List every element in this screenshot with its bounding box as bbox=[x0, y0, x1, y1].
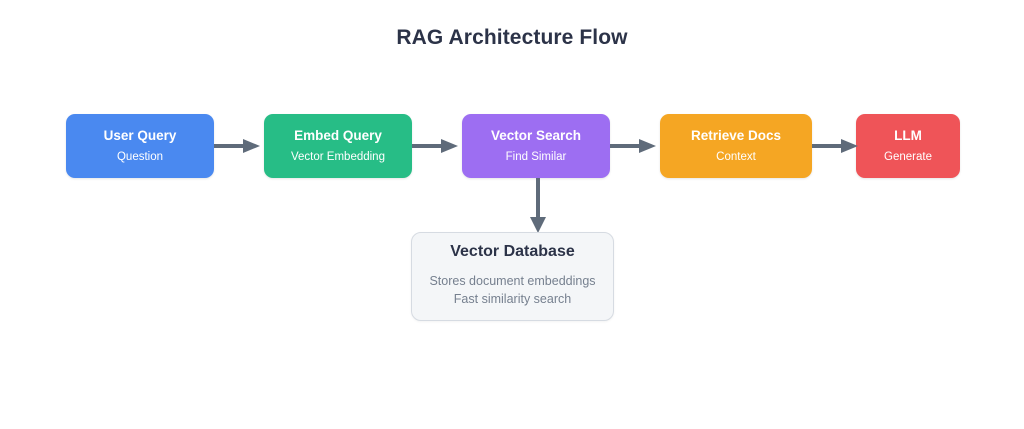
flow-node-subtitle: Generate bbox=[884, 152, 932, 164]
arrow-head bbox=[530, 217, 546, 233]
arrow-head bbox=[441, 139, 458, 153]
flow-node-title: LLM bbox=[894, 129, 922, 143]
arrow-right-icon bbox=[412, 139, 462, 153]
vector-database-detail-line-2: Fast similarity search bbox=[454, 291, 571, 309]
arrow-right-icon bbox=[812, 139, 862, 153]
flow-node-title: User Query bbox=[104, 129, 177, 143]
vector-database-title: Vector Database bbox=[450, 244, 575, 260]
flow-node-subtitle: Vector Embedding bbox=[291, 152, 385, 164]
arrow-right-icon bbox=[610, 139, 660, 153]
arrow-head bbox=[243, 139, 260, 153]
arrow-down-icon bbox=[530, 178, 546, 232]
flow-node-subtitle: Context bbox=[716, 152, 756, 164]
vector-database-detail-line-1: Stores document embeddings bbox=[429, 273, 595, 291]
flow-node-title: Embed Query bbox=[294, 129, 382, 143]
flow-node-retrieve-docs[interactable]: Retrieve Docs Context bbox=[660, 114, 812, 178]
arrow-head bbox=[841, 139, 858, 153]
flow-node-title: Retrieve Docs bbox=[691, 129, 781, 143]
flow-row: User Query Question Embed Query Vector E… bbox=[0, 114, 1024, 178]
arrow-shaft bbox=[214, 144, 246, 148]
flow-node-subtitle: Question bbox=[117, 152, 163, 164]
arrow-shaft bbox=[812, 144, 844, 148]
arrow-shaft bbox=[412, 144, 444, 148]
flow-node-embed-query[interactable]: Embed Query Vector Embedding bbox=[264, 114, 412, 178]
arrow-right-icon bbox=[214, 139, 264, 153]
arrow-shaft bbox=[536, 178, 540, 220]
arrow-shaft bbox=[610, 144, 642, 148]
page-title: RAG Architecture Flow bbox=[0, 26, 1024, 50]
flow-node-vector-search[interactable]: Vector Search Find Similar bbox=[462, 114, 610, 178]
vector-database-card[interactable]: Vector Database Stores document embeddin… bbox=[411, 232, 614, 321]
arrow-head bbox=[639, 139, 656, 153]
flow-node-title: Vector Search bbox=[491, 129, 581, 143]
flow-node-user-query[interactable]: User Query Question bbox=[66, 114, 214, 178]
flow-node-subtitle: Find Similar bbox=[506, 152, 567, 164]
flow-node-llm[interactable]: LLM Generate bbox=[856, 114, 960, 178]
